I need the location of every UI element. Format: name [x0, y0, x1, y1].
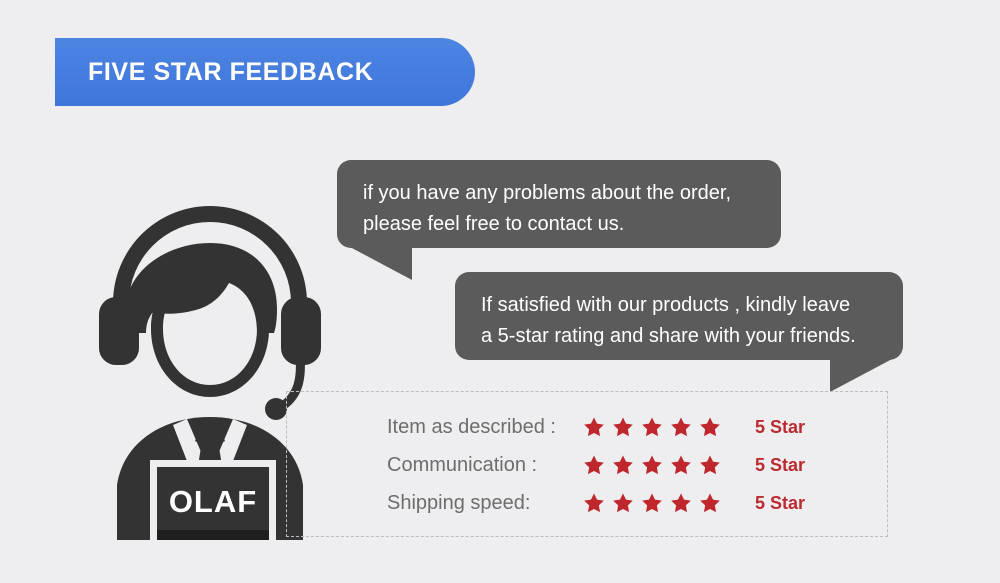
- rating-label: Shipping speed:: [387, 492, 583, 515]
- star-icon: [699, 454, 721, 476]
- feedback-banner-page: FIVE STAR FEEDBACK: [0, 0, 1000, 583]
- page-title: FIVE STAR FEEDBACK: [55, 58, 373, 87]
- star-icon: [670, 454, 692, 476]
- star-icon: [612, 492, 634, 514]
- rating-stars: [583, 416, 755, 438]
- rating-value: 5 Star: [755, 417, 805, 438]
- speech-bubble-rating-tail: [830, 359, 892, 392]
- speech-bubble-rating: If satisfied with our products , kindly …: [455, 272, 903, 360]
- rating-stars: [583, 454, 755, 476]
- star-icon: [699, 416, 721, 438]
- rating-row: Communication : 5 Star: [387, 446, 805, 484]
- speech-bubble-support: if you have any problems about the order…: [337, 160, 781, 248]
- rating-row: Shipping speed: 5 Star: [387, 484, 805, 522]
- star-icon: [641, 492, 663, 514]
- star-icon: [641, 416, 663, 438]
- star-icon: [583, 416, 605, 438]
- star-icon: [641, 454, 663, 476]
- star-icon: [670, 416, 692, 438]
- rating-label: Item as described :: [387, 416, 583, 439]
- star-icon: [699, 492, 721, 514]
- star-icon: [612, 416, 634, 438]
- rating-row: Item as described : 5 Star: [387, 408, 805, 446]
- rating-value: 5 Star: [755, 493, 805, 514]
- rating-stars: [583, 492, 755, 514]
- ratings-panel: Item as described : 5 Star Communication…: [286, 391, 888, 537]
- star-icon: [612, 454, 634, 476]
- header-banner: FIVE STAR FEEDBACK: [55, 38, 475, 106]
- rating-label: Communication :: [387, 454, 583, 477]
- star-icon: [583, 492, 605, 514]
- svg-text:OLAF: OLAF: [169, 484, 257, 519]
- star-icon: [583, 454, 605, 476]
- speech-bubble-support-tail: [350, 247, 412, 280]
- ratings-list: Item as described : 5 Star Communication…: [387, 408, 805, 522]
- star-icon: [670, 492, 692, 514]
- rating-value: 5 Star: [755, 455, 805, 476]
- speech-bubble-rating-text: If satisfied with our products , kindly …: [481, 290, 877, 352]
- speech-bubble-support-text: if you have any problems about the order…: [363, 178, 755, 240]
